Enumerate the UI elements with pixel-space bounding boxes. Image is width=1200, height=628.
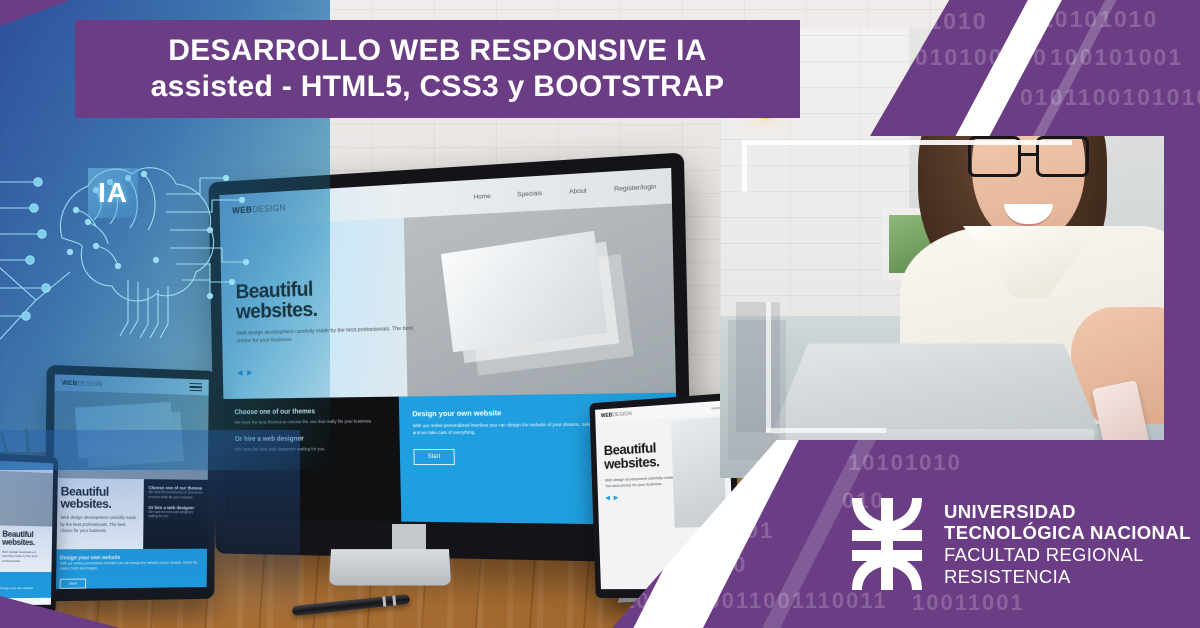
- utn-sun-icon: [848, 498, 926, 590]
- ia-chip-badge: IA: [88, 168, 138, 218]
- nav-link-register-login[interactable]: Register/login: [614, 183, 657, 193]
- mockup-nav-links: Home Specials About Register/login: [473, 183, 656, 201]
- arrow-left-icon[interactable]: [605, 496, 610, 501]
- photo-frame-top-bar: [742, 140, 1072, 145]
- ia-chip-label: IA: [98, 177, 128, 209]
- title-line-2: assisted - HTML5, CSS3 y BOOTSTRAP: [151, 70, 725, 104]
- photo-frame-lower-left-bar: [766, 302, 771, 432]
- photo-frame-block-inner: [736, 302, 780, 432]
- arrow-right-icon[interactable]: [614, 495, 619, 500]
- laptop-logo: WEBDESIGN: [601, 411, 632, 419]
- binary-text: 10011001: [912, 590, 1025, 616]
- nav-link-home[interactable]: Home: [473, 192, 490, 200]
- nav-link-about[interactable]: About: [569, 187, 587, 195]
- promotional-banner: WEBDESIGN Home Specials About Register/l…: [0, 0, 1200, 628]
- title-line-1: DESARROLLO WEB RESPONSIVE IA: [168, 34, 706, 68]
- utn-logo: UNIVERSIDAD TECNOLÓGICA NACIONAL FACULTA…: [848, 498, 1191, 590]
- monitor-stand-base: [329, 549, 451, 585]
- start-button[interactable]: Start: [413, 449, 455, 465]
- hero-device-collage-image: [404, 204, 677, 407]
- utn-line-2: TECNOLÓGICA NACIONAL: [944, 522, 1191, 544]
- laptop-logo-light: DESIGN: [612, 411, 632, 418]
- photo-laptop-screen: [771, 343, 1100, 435]
- photo-frame-bottom-bar: [766, 428, 886, 433]
- brain-circuit-icon: [0, 130, 290, 360]
- ai-blue-fade-bottom: [0, 430, 300, 628]
- title-banner: DESARROLLO WEB RESPONSIVE IA assisted - …: [75, 20, 800, 118]
- photo-frame-left-bar: [742, 140, 747, 192]
- laptop-logo-bold: WEB: [601, 412, 613, 419]
- utn-line-1: UNIVERSIDAD: [944, 501, 1191, 523]
- utn-line-4: RESISTENCIA: [944, 566, 1191, 588]
- utn-line-3: FACULTAD REGIONAL: [944, 544, 1191, 566]
- nav-link-specials[interactable]: Specials: [517, 189, 542, 198]
- utn-logo-text: UNIVERSIDAD TECNOLÓGICA NACIONAL FACULTA…: [944, 501, 1191, 588]
- laptop-heading-line2: websites.: [604, 453, 660, 472]
